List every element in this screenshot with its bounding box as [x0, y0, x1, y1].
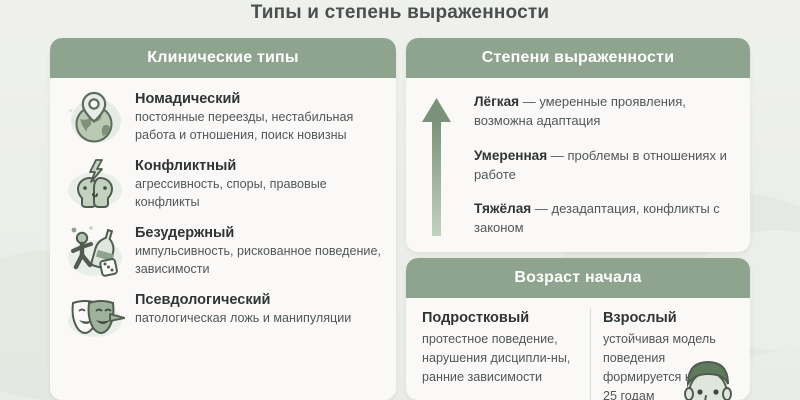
list-item-desc: патологическая ложь и манипуляции [135, 310, 351, 327]
severity-name: Тяжёлая [474, 201, 531, 216]
severity-dash: — [535, 201, 548, 216]
arguing-heads-icon [64, 155, 126, 213]
up-arrow-icon [420, 92, 460, 238]
list-item-text: Номадический постоянные переезды, нестаб… [135, 88, 382, 144]
age-of-onset-header: Возраст начала [406, 258, 750, 298]
severity-items: Лёгкая — умеренные проявления, возможна … [474, 92, 736, 238]
theatre-masks-icon [64, 289, 126, 347]
list-item: Номадический постоянные переезды, нестаб… [64, 88, 382, 146]
running-bottle-dice-icon [64, 222, 126, 280]
list-item-title: Номадический [135, 90, 382, 108]
age-column-desc: протестное поведение, нарушения дисципли… [422, 330, 580, 387]
list-item-title: Конфликтный [135, 157, 382, 175]
globe-pin-icon [64, 88, 126, 146]
list-item-text: Псевдологический патологическая ложь и м… [135, 289, 351, 328]
list-item-desc: постоянные переезды, нестабильная работа… [135, 109, 382, 144]
list-item-desc: импульсивность, рискованное поведение, з… [135, 243, 382, 278]
age-column-title: Взрослый [603, 310, 726, 326]
age-column-adult: Взрослый устойчивая модель поведения фор… [590, 308, 736, 400]
list-item-text: Конфликтный агрессивность, споры, правов… [135, 155, 382, 211]
list-item-desc: агрессивность, споры, правовые конфликты [135, 176, 382, 211]
page-title: Типы и степень выраженности [0, 2, 800, 24]
age-column-adolescent: Подростковый протестное поведение, наруш… [420, 308, 590, 400]
man-face-icon [664, 354, 750, 400]
list-item: Конфликтный агрессивность, споры, правов… [64, 155, 382, 213]
list-item-title: Безудержный [135, 224, 382, 242]
clinical-types-body: Номадический постоянные переезды, нестаб… [50, 78, 396, 355]
list-item-title: Псевдологический [135, 291, 351, 309]
list-item: Безудержный импульсивность, рискованное … [64, 222, 382, 280]
list-item: Лёгкая — умеренные проявления, возможна … [474, 92, 736, 131]
age-column-title: Подростковый [422, 310, 580, 326]
severity-name: Умеренная [474, 148, 547, 163]
clinical-types-header: Клинические типы [50, 38, 396, 78]
severity-name: Лёгкая [474, 94, 519, 109]
severity-card: Степени выраженности [406, 38, 750, 252]
severity-header: Степени выраженности [406, 38, 750, 78]
severity-body: Лёгкая — умеренные проявления, возможна … [406, 78, 750, 246]
list-item: Псевдологический патологическая ложь и м… [64, 289, 382, 347]
age-of-onset-card: Возраст начала Подростковый протестное п… [406, 258, 750, 400]
severity-dash: — [523, 94, 536, 109]
severity-dash: — [551, 148, 564, 163]
list-item: Тяжёлая — дезадаптация, конфликты с зако… [474, 199, 736, 238]
list-item: Умеренная — проблемы в отношениях и рабо… [474, 146, 736, 185]
list-item-text: Безудержный импульсивность, рискованное … [135, 222, 382, 278]
age-of-onset-body: Подростковый протестное поведение, наруш… [406, 298, 750, 400]
clinical-types-card: Клинические типы Номадический постоян [50, 38, 396, 400]
